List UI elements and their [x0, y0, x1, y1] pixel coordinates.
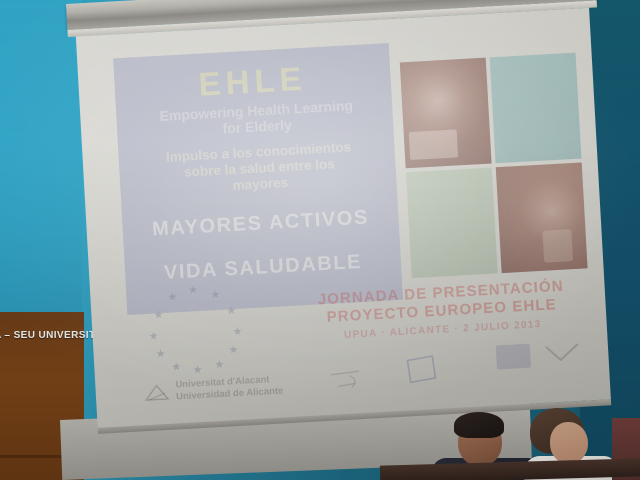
eu-star-icon: ★ — [188, 286, 197, 295]
eu-star-icon: ★ — [153, 311, 162, 320]
partner-logo-2 — [404, 353, 438, 385]
eu-star-icon: ★ — [167, 293, 176, 302]
face — [550, 422, 588, 464]
eu-star-icon: ★ — [148, 332, 157, 341]
projection-screen-assembly: EHLE Empowering Health Learning for Elde… — [66, 0, 620, 443]
hair — [454, 412, 504, 438]
slide-photo-grid — [400, 53, 588, 278]
eu-star-icon: ★ — [232, 328, 241, 337]
university-logo-text: Universitat d'Alacant Universidad de Ali… — [175, 374, 284, 404]
color-block-green — [406, 167, 498, 278]
eu-star-icon: ★ — [226, 307, 235, 316]
eu-star-icon: ★ — [228, 346, 237, 355]
partner-logo-3 — [496, 344, 531, 370]
european-union-stars-emblem: ★ ★ ★ ★ ★ ★ ★ ★ ★ ★ ★ ★ — [146, 284, 245, 377]
university-of-alicante-logo: Universitat d'Alacant Universidad de Ali… — [143, 374, 283, 405]
projected-slide: EHLE Empowering Health Learning for Elde… — [76, 8, 611, 428]
partner-logo-1 — [329, 368, 376, 391]
eu-star-icon: ★ — [210, 291, 219, 300]
photo-group-outdoors — [496, 162, 588, 273]
partner-logo-strip — [328, 338, 599, 407]
university-mark-icon — [143, 383, 170, 402]
eu-star-icon: ★ — [214, 361, 223, 370]
color-block-teal — [490, 53, 582, 164]
eu-star-icon: ★ — [192, 366, 201, 375]
eu-star-icon: ★ — [171, 363, 180, 372]
partner-logo-4 — [544, 343, 581, 365]
photo-elderly-learning — [400, 58, 492, 169]
eu-star-icon: ★ — [155, 350, 164, 359]
photograph-scene: A – SEU UNIVERSIT EHLE Empowering Health… — [0, 0, 640, 480]
